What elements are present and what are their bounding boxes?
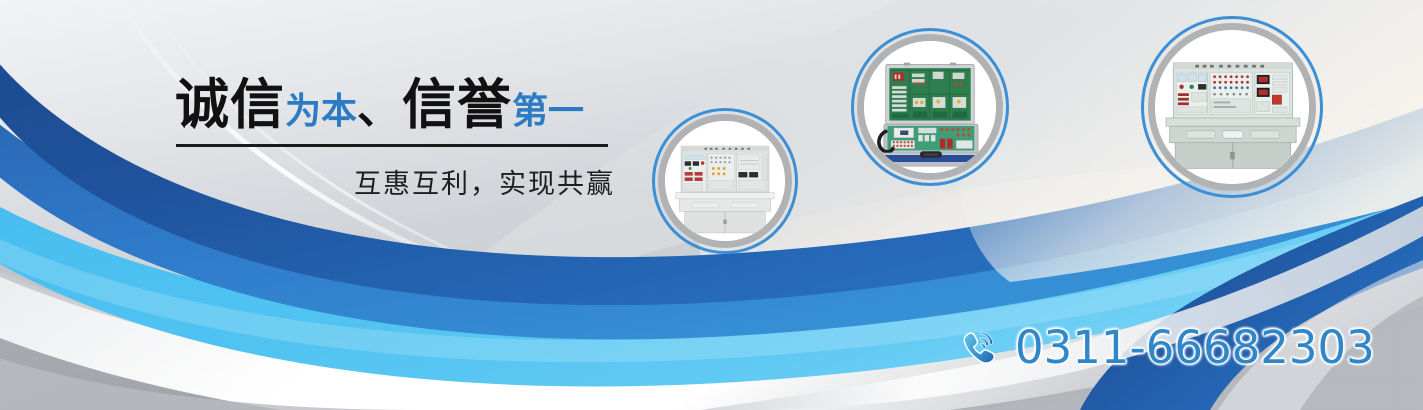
headline-part-2: 为本: [285, 91, 357, 132]
product-circle-2[interactable]: [857, 34, 1003, 180]
product-circle-1[interactable]: [658, 114, 792, 248]
promo-banner: 诚信为本、信誉第一 互惠互利，实现共赢: [0, 0, 1423, 410]
contact-phone[interactable]: 0311-66682303: [955, 325, 1375, 371]
headline-separator: 、: [357, 83, 402, 134]
headline-part-4: 第一: [512, 91, 584, 132]
subtitle: 互惠互利，实现共赢: [175, 162, 615, 201]
page-title: 诚信为本、信誉第一: [175, 72, 584, 139]
portable-electronics-training-case-image: [864, 41, 996, 173]
product-circle-3[interactable]: [1148, 23, 1316, 191]
headline-part-1: 诚信: [175, 73, 285, 136]
electrical-training-workbench-image: [665, 121, 785, 241]
headline-part-3: 信誉: [402, 73, 512, 136]
headline-block: 诚信为本、信誉第一 互惠互利，实现共赢: [0, 0, 660, 230]
headline-divider: [176, 144, 608, 147]
phone-call-icon: [955, 325, 1001, 371]
phone-number[interactable]: 0311-66682303: [1015, 325, 1375, 371]
electrical-test-bench-image: [1155, 30, 1309, 184]
